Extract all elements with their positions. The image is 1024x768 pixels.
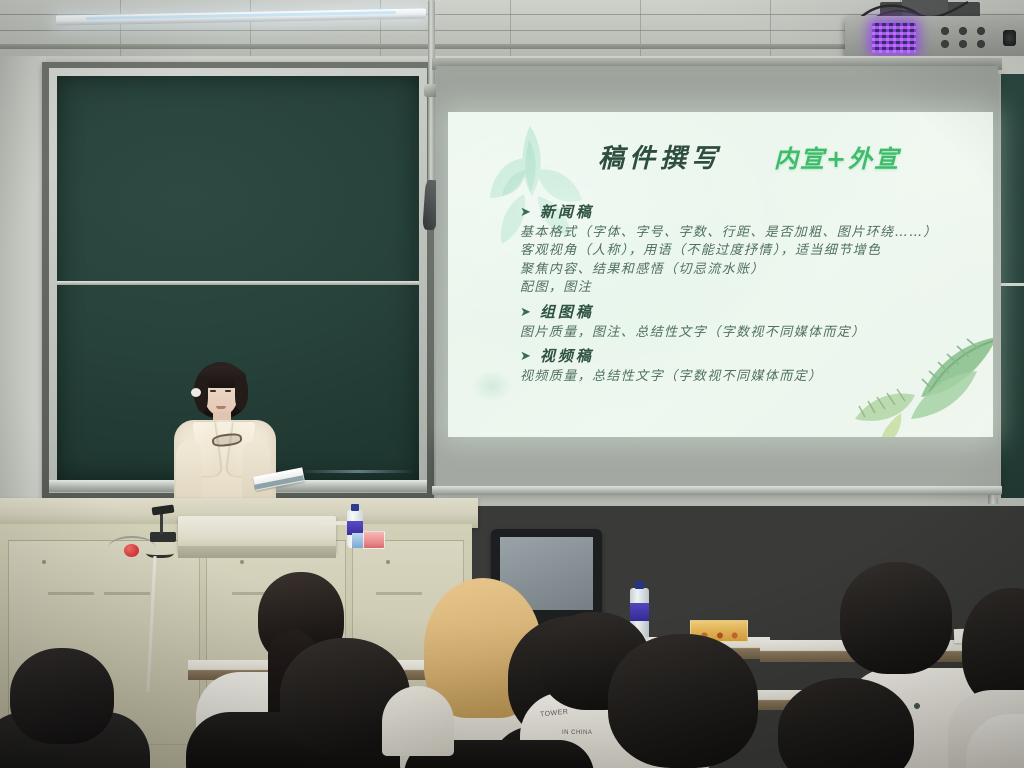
slide-title-accent: 内宣+外宣 bbox=[774, 139, 900, 174]
student-head-foreground bbox=[778, 678, 914, 768]
slide-title-row: 稿件撰写 内宣+外宣 bbox=[598, 138, 988, 175]
projected-slide: 稿件撰写 内宣+外宣 ➤ 新闻稿 基本格式（字体、字号、字数、行距、是否加粗、图… bbox=[448, 112, 993, 437]
red-knob-icon bbox=[124, 544, 139, 557]
slide-title: 稿件撰写 bbox=[598, 138, 722, 175]
slide-section-heading: ➤ 视频稿 bbox=[520, 345, 980, 366]
slide-body-line: 视频质量，总结性文字（字数视不同媒体而定） bbox=[520, 368, 980, 386]
left-wall-return bbox=[0, 56, 46, 506]
presenter-hair-right bbox=[235, 376, 248, 410]
lectern-front-face bbox=[178, 546, 336, 558]
student-head bbox=[10, 648, 114, 744]
slide-section: ➤ 视频稿 视频质量，总结性文字（字数视不同媒体而定） bbox=[520, 345, 980, 386]
presenter-eye-left bbox=[210, 390, 216, 392]
screen-pull-rod bbox=[428, 0, 435, 200]
bullet-arrow-icon: ➤ bbox=[520, 205, 531, 218]
shirt-graphic: IN CHINA bbox=[562, 730, 592, 736]
slide-heading-text: 视频稿 bbox=[540, 345, 594, 366]
slide-body: ➤ 新闻稿 基本格式（字体、字号、字数、行距、是否加粗、图片环绕……） 客观视角… bbox=[520, 198, 980, 387]
slide-body-line: 配图，图注 bbox=[520, 279, 980, 297]
right-chalkboard-divider bbox=[1001, 283, 1024, 286]
slide-heading-text: 组图稿 bbox=[540, 301, 594, 322]
slide-body-line: 基本格式（字体、字号、字数、行距、是否加粗、图片环绕……） bbox=[520, 224, 980, 242]
presenter-hair-clip bbox=[191, 388, 201, 397]
screen-bottom-bar bbox=[432, 486, 1002, 495]
projector-vent-glow bbox=[872, 23, 916, 53]
slide-heading-text: 新闻稿 bbox=[540, 201, 594, 222]
projector-lens bbox=[1003, 30, 1016, 46]
slide-body-line: 客观视角（人称），用语（不能过度抒情），适当细节增色 bbox=[520, 242, 980, 260]
microphone-base bbox=[150, 532, 176, 542]
bullet-arrow-icon: ➤ bbox=[520, 349, 531, 362]
slide-section: ➤ 新闻稿 基本格式（字体、字号、字数、行距、是否加粗、图片环绕……） 客观视角… bbox=[520, 201, 980, 298]
bullet-arrow-icon: ➤ bbox=[520, 305, 531, 318]
desk-cable-loop bbox=[146, 546, 174, 558]
slide-section: ➤ 组图稿 图片质量，图注、总结性文字（字数视不同媒体而定） bbox=[520, 301, 980, 342]
student-shoulders bbox=[382, 686, 454, 756]
right-chalkboard-panel bbox=[996, 74, 1024, 498]
classroom-photo: 稿件撰写 内宣+外宣 ➤ 新闻稿 基本格式（字体、字号、字数、行距、是否加粗、图… bbox=[0, 0, 1024, 768]
slide-section-heading: ➤ 组图稿 bbox=[520, 301, 980, 322]
blue-cup bbox=[352, 533, 363, 548]
presenter-eye-right bbox=[225, 390, 231, 392]
chalkboard-divider-rail bbox=[57, 281, 419, 285]
chalk-smudge bbox=[300, 470, 415, 473]
presenter-mouth bbox=[216, 406, 226, 409]
projector-control-knobs bbox=[937, 25, 995, 51]
slide-body-line: 聚焦内容、结果和感悟（切忌流水账） bbox=[520, 261, 980, 279]
watermark-circle bbox=[472, 370, 512, 402]
slide-body-line: 图片质量，图注、总结性文字（字数视不同媒体而定） bbox=[520, 324, 980, 342]
slide-section-heading: ➤ 新闻稿 bbox=[520, 201, 980, 222]
student-head bbox=[840, 562, 952, 674]
student-head-foreground bbox=[608, 634, 758, 768]
paper-cup bbox=[363, 531, 385, 549]
